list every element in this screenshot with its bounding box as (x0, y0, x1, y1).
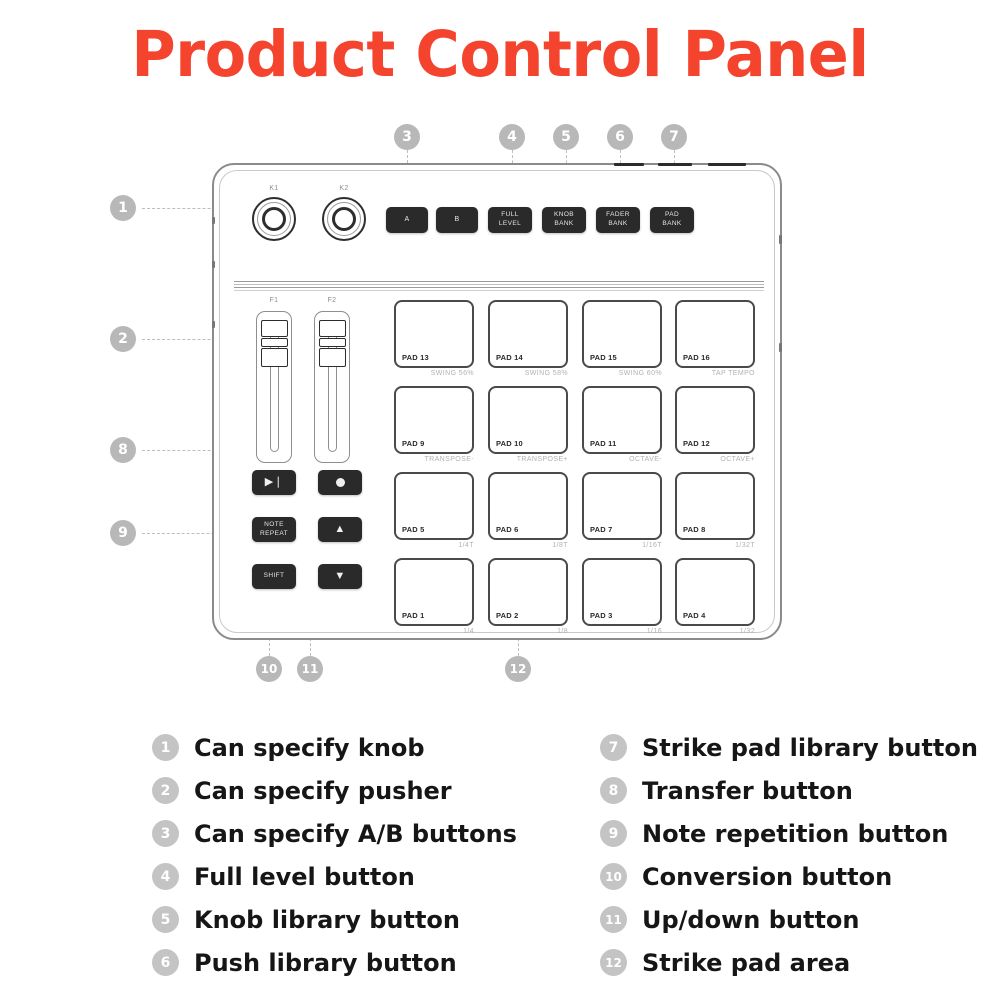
callout-7[interactable]: 7 (661, 124, 687, 150)
pad-8[interactable]: PAD 8 (675, 472, 755, 540)
pad-8-label: PAD 8 (683, 525, 706, 534)
pad-11-sublabel: OCTAVE- (582, 456, 662, 463)
legend-item-8: 8 Transfer button (600, 769, 1000, 812)
pad-8-sublabel: 1/32T (675, 542, 755, 549)
legend-text-9: Note repetition button (642, 820, 948, 848)
callout-4[interactable]: 4 (499, 124, 525, 150)
fader-f1[interactable] (256, 311, 292, 463)
left-edge-nub-3 (212, 321, 215, 328)
legend-item-9: 9 Note repetition button (600, 812, 1000, 855)
knob-label-k1: K1 (259, 185, 289, 192)
callout-8[interactable]: 8 (110, 437, 136, 463)
right-edge-nub-2 (779, 343, 782, 352)
legend-item-10: 10 Conversion button (600, 855, 1000, 898)
legend-text-7: Strike pad library button (642, 734, 978, 762)
legend-badge-4: 4 (152, 863, 179, 890)
down-button[interactable]: ▼ (318, 564, 362, 589)
pad-16-sublabel: TAP TEMPO (675, 370, 755, 377)
legend-text-6: Push library button (194, 949, 457, 977)
pad-11-label: PAD 11 (590, 439, 617, 448)
knob-bank-button-line2: BANK (554, 220, 573, 229)
legend-badge-2: 2 (152, 777, 179, 804)
pad-7-label: PAD 7 (590, 525, 613, 534)
pad-bank-button-line1: PAD (665, 211, 679, 220)
record-icon (336, 478, 345, 487)
legend-item-4: 4 Full level button (152, 855, 572, 898)
pad-14-label: PAD 14 (496, 353, 523, 362)
shift-button-label: SHIFT (264, 572, 285, 580)
callout-6[interactable]: 6 (607, 124, 633, 150)
legend-text-4: Full level button (194, 863, 415, 891)
pad-1[interactable]: PAD 1 (394, 558, 474, 626)
pad-2-label: PAD 2 (496, 611, 519, 620)
pad-bank-button[interactable]: PAD BANK (650, 207, 694, 233)
legend-text-1: Can specify knob (194, 734, 425, 762)
knob-k2[interactable] (322, 197, 366, 241)
legend-badge-12: 12 (600, 949, 627, 976)
callout-2[interactable]: 2 (110, 326, 136, 352)
legend-badge-8: 8 (600, 777, 627, 804)
pad-3-label: PAD 3 (590, 611, 613, 620)
fader-bank-button-line1: FADER (606, 211, 630, 220)
pad-16[interactable]: PAD 16 (675, 300, 755, 368)
callout-5[interactable]: 5 (553, 124, 579, 150)
callout-1[interactable]: 1 (110, 195, 136, 221)
pad-3-sublabel: 1/16 (582, 628, 662, 635)
top-edge-tick-2 (658, 163, 692, 166)
full-level-button-line1: FULL (501, 211, 519, 220)
callout-10[interactable]: 10 (256, 656, 282, 682)
pad-6-sublabel: 1/8T (488, 542, 568, 549)
legend-item-11: 11 Up/down button (600, 898, 1000, 941)
fader-label-f1: F1 (262, 297, 286, 304)
shift-button[interactable]: SHIFT (252, 564, 296, 589)
pad-14-sublabel: SWING 58% (488, 370, 568, 377)
page-title: Product Control Panel (20, 18, 980, 91)
full-level-button[interactable]: FULL LEVEL (488, 207, 532, 233)
pad-10[interactable]: PAD 10 (488, 386, 568, 454)
pad-2-sublabel: 1/8 (488, 628, 568, 635)
pad-bank-button-line2: BANK (662, 220, 681, 229)
legend-badge-1: 1 (152, 734, 179, 761)
legend-badge-7: 7 (600, 734, 627, 761)
pad-12[interactable]: PAD 12 (675, 386, 755, 454)
a-button[interactable]: A (386, 207, 428, 233)
note-repeat-button-line1: NOTE (264, 521, 284, 529)
full-level-button-line2: LEVEL (499, 220, 521, 229)
top-edge-tick-1 (614, 163, 644, 166)
legend-badge-11: 11 (600, 906, 627, 933)
play-pause-button[interactable]: ▶❘ (252, 470, 296, 495)
callout-11[interactable]: 11 (297, 656, 323, 682)
pad-5-sublabel: 1/4T (394, 542, 474, 549)
pad-13[interactable]: PAD 13 (394, 300, 474, 368)
knob-k1[interactable] (252, 197, 296, 241)
fader-label-f2: F2 (320, 297, 344, 304)
callout-12[interactable]: 12 (505, 656, 531, 682)
pad-6[interactable]: PAD 6 (488, 472, 568, 540)
top-edge-tick-3 (708, 163, 746, 166)
pad-9-label: PAD 9 (402, 439, 425, 448)
pad-4-sublabel: 1/32 (675, 628, 755, 635)
legend-item-3: 3 Can specify A/B buttons (152, 812, 572, 855)
fader-bank-button-line2: BANK (608, 220, 627, 229)
legend-text-11: Up/down button (642, 906, 860, 934)
strike-pad-area: PAD 13 SWING 56% PAD 14 SWING 58% PAD 15… (394, 300, 754, 627)
pad-12-sublabel: OCTAVE+ (675, 456, 755, 463)
pad-6-label: PAD 6 (496, 525, 519, 534)
pad-4-label: PAD 4 (683, 611, 706, 620)
panel-separator (234, 281, 764, 291)
note-repeat-button-line2: REPEAT (260, 530, 288, 538)
pad-12-label: PAD 12 (683, 439, 710, 448)
legend-badge-9: 9 (600, 820, 627, 847)
legend-badge-10: 10 (600, 863, 627, 890)
pad-9-sublabel: TRANSPOSE- (394, 456, 474, 463)
legend-item-12: 12 Strike pad area (600, 941, 1000, 984)
left-edge-nub-2 (212, 261, 215, 268)
pad-13-label: PAD 13 (402, 353, 429, 362)
product-control-panel-page: Product Control Panel K1 K2 (0, 0, 1000, 1000)
fader-f2-handle[interactable] (319, 320, 346, 368)
pad-2[interactable]: PAD 2 (488, 558, 568, 626)
a-button-label: A (404, 215, 409, 224)
knob-bank-button-line1: KNOB (554, 211, 574, 220)
legend-text-3: Can specify A/B buttons (194, 820, 517, 848)
legend-badge-3: 3 (152, 820, 179, 847)
note-repeat-button[interactable]: NOTE REPEAT (252, 517, 296, 542)
fader-bank-button[interactable]: FADER BANK (596, 207, 640, 233)
legend-column-right: 7 Strike pad library button 8 Transfer b… (600, 726, 1000, 984)
pad-14[interactable]: PAD 14 (488, 300, 568, 368)
pad-11[interactable]: PAD 11 (582, 386, 662, 454)
pad-15-sublabel: SWING 60% (582, 370, 662, 377)
pad-1-label: PAD 1 (402, 611, 425, 620)
chevron-down-icon: ▼ (334, 571, 345, 582)
pad-4[interactable]: PAD 4 (675, 558, 755, 626)
left-edge-nub-1 (212, 217, 215, 224)
legend-item-6: 6 Push library button (152, 941, 572, 984)
callout-9[interactable]: 9 (110, 520, 136, 546)
pad-10-sublabel: TRANSPOSE+ (488, 456, 568, 463)
legend-text-8: Transfer button (642, 777, 853, 805)
legend-text-5: Knob library button (194, 906, 460, 934)
pad-5-label: PAD 5 (402, 525, 425, 534)
legend-item-1: 1 Can specify knob (152, 726, 572, 769)
pad-5[interactable]: PAD 5 (394, 472, 474, 540)
pad-10-label: PAD 10 (496, 439, 523, 448)
pad-7-sublabel: 1/16T (582, 542, 662, 549)
fader-f1-handle[interactable] (261, 320, 288, 368)
b-button[interactable]: B (436, 207, 478, 233)
legend-badge-6: 6 (152, 949, 179, 976)
legend-item-5: 5 Knob library button (152, 898, 572, 941)
legend-text-12: Strike pad area (642, 949, 850, 977)
pad-3[interactable]: PAD 3 (582, 558, 662, 626)
midi-controller-device: K1 K2 A B FULL LEVEL KNOB BANK FADER BAN… (212, 163, 782, 640)
pad-15[interactable]: PAD 15 (582, 300, 662, 368)
b-button-label: B (454, 215, 459, 224)
fader-f2[interactable] (314, 311, 350, 463)
legend-item-7: 7 Strike pad library button (600, 726, 1000, 769)
pad-16-label: PAD 16 (683, 353, 710, 362)
right-edge-nub-1 (779, 235, 782, 244)
knob-label-k2: K2 (329, 185, 359, 192)
legend-column-left: 1 Can specify knob 2 Can specify pusher … (152, 726, 572, 984)
legend-text-10: Conversion button (642, 863, 892, 891)
legend-badge-5: 5 (152, 906, 179, 933)
callout-3[interactable]: 3 (394, 124, 420, 150)
pad-13-sublabel: SWING 56% (394, 370, 474, 377)
pad-15-label: PAD 15 (590, 353, 617, 362)
legend-text-2: Can specify pusher (194, 777, 452, 805)
pad-1-sublabel: 1/4 (394, 628, 474, 635)
chevron-up-icon: ▲ (334, 524, 345, 535)
pad-7[interactable]: PAD 7 (582, 472, 662, 540)
pad-9[interactable]: PAD 9 (394, 386, 474, 454)
up-button[interactable]: ▲ (318, 517, 362, 542)
record-button[interactable] (318, 470, 362, 495)
legend: 1 Can specify knob 2 Can specify pusher … (0, 726, 1000, 1000)
legend-item-2: 2 Can specify pusher (152, 769, 572, 812)
knob-bank-button[interactable]: KNOB BANK (542, 207, 586, 233)
play-pause-icon: ▶❘ (265, 477, 283, 488)
